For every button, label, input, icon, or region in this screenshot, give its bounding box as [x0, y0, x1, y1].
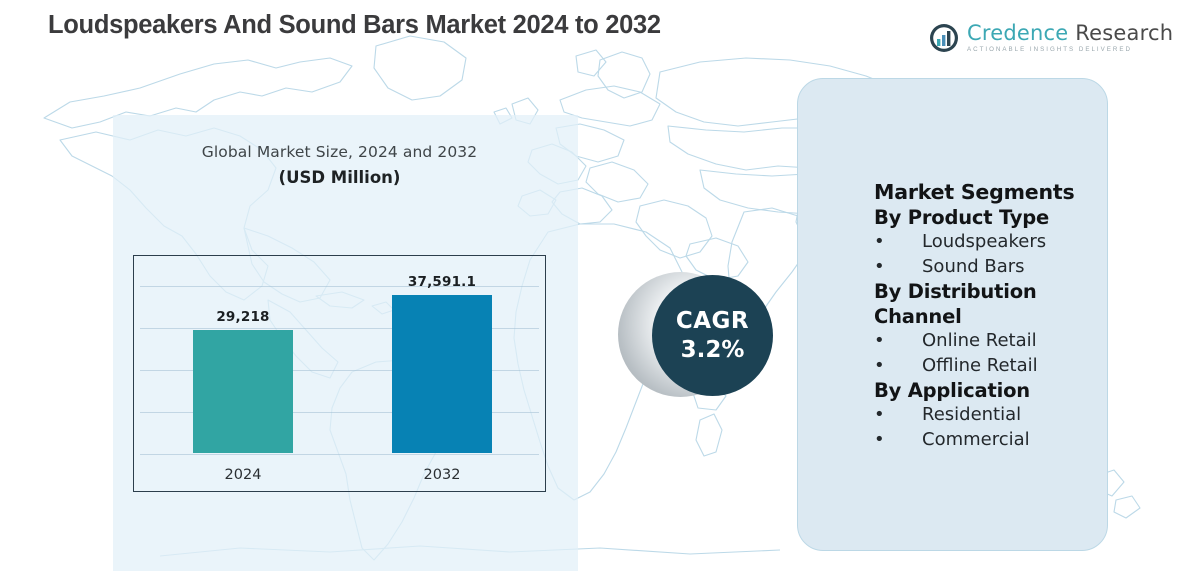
- market-segments-list: Market Segments By Product Type • Loudsp…: [874, 180, 1099, 452]
- segment-item-commercial: • Commercial: [874, 428, 1099, 453]
- chart-plot-area: 29,218 2024 37,591.1 2032: [140, 270, 539, 453]
- cagr-badge: CAGR 3.2%: [618, 272, 783, 402]
- segment-item-loudspeakers: • Loudspeakers: [874, 230, 1099, 255]
- segment-item-label: Loudspeakers: [922, 230, 1046, 255]
- bullet-icon: •: [874, 329, 922, 354]
- bar-label-2024: 2024: [193, 467, 293, 483]
- bullet-icon: •: [874, 428, 922, 453]
- segment-item-label: Residential: [922, 403, 1021, 428]
- cagr-value: 3.2%: [681, 337, 745, 363]
- bullet-icon: •: [874, 255, 922, 280]
- segment-category-distribution-channel-line2: Channel: [874, 304, 1099, 329]
- segment-item-sound-bars: • Sound Bars: [874, 255, 1099, 280]
- chart-title: Global Market Size, 2024 and 2032: [133, 143, 546, 161]
- bar-rect-2032: [392, 295, 492, 453]
- segment-item-label: Commercial: [922, 428, 1030, 453]
- bullet-icon: •: [874, 354, 922, 379]
- bar-value-2024: 29,218: [193, 309, 293, 325]
- chart-heading: Global Market Size, 2024 and 2032 (USD M…: [133, 143, 546, 187]
- logo-wordmark: Credence Research: [967, 23, 1173, 44]
- page-title: Loudspeakers And Sound Bars Market 2024 …: [48, 11, 661, 40]
- bar-value-2032: 37,591.1: [392, 274, 492, 290]
- bullet-icon: •: [874, 403, 922, 428]
- bar-chart: 29,218 2024 37,591.1 2032: [133, 255, 546, 492]
- infographic-root: Loudspeakers And Sound Bars Market 2024 …: [0, 0, 1203, 571]
- segment-item-residential: • Residential: [874, 403, 1099, 428]
- logo-text: Credence Research Actionable Insights De…: [967, 23, 1173, 53]
- segment-item-offline-retail: • Offline Retail: [874, 354, 1099, 379]
- segment-item-label: Online Retail: [922, 329, 1037, 354]
- segments-title: Market Segments: [874, 180, 1099, 205]
- logo-tagline: Actionable Insights Delivered: [967, 47, 1173, 53]
- logo-word-credence: Credence: [967, 21, 1068, 45]
- segment-category-application: By Application: [874, 378, 1099, 403]
- chart-subtitle: (USD Million): [133, 168, 546, 187]
- segment-category-product-type: By Product Type: [874, 205, 1099, 230]
- bar-chart-circle-icon: [928, 22, 960, 54]
- bar-label-2032: 2032: [392, 467, 492, 483]
- segment-item-online-retail: • Online Retail: [874, 329, 1099, 354]
- logo-word-research: Research: [1075, 21, 1173, 45]
- segment-category-distribution-channel-line1: By Distribution: [874, 279, 1099, 304]
- segment-item-label: Sound Bars: [922, 255, 1025, 280]
- bullet-icon: •: [874, 230, 922, 255]
- brand-logo[interactable]: Credence Research Actionable Insights De…: [928, 22, 1173, 54]
- bar-rect-2024: [193, 330, 293, 453]
- cagr-label: CAGR: [676, 308, 749, 334]
- segment-item-label: Offline Retail: [922, 354, 1038, 379]
- cagr-circle: CAGR 3.2%: [652, 275, 773, 396]
